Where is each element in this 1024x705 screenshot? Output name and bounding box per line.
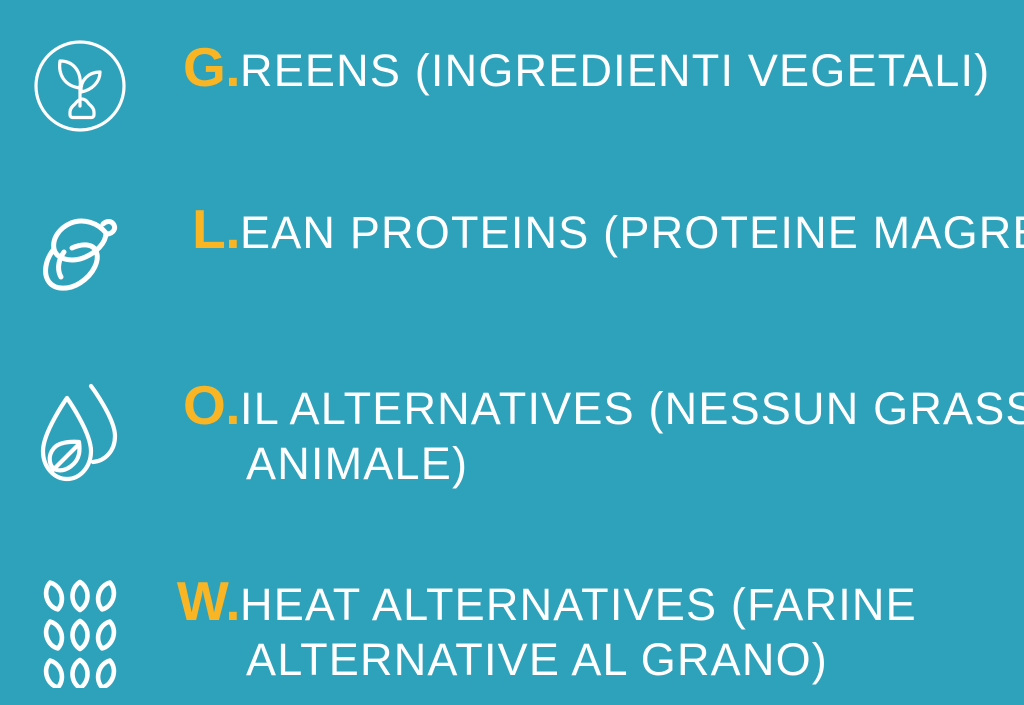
- list-item-text: W.HEAT ALTERNATIVES (FARINE ALTERNATIVE …: [160, 568, 1024, 686]
- list-item-line: G.REENS (INGREDIENTI VEGETALI): [160, 36, 1020, 100]
- list-item: O.IL ALTERNATIVES (NESSUN GRASSO ANIMALE…: [0, 372, 1024, 494]
- list-item: L.EAN PROTEINS (PROTEINE MAGRE): [0, 196, 1024, 306]
- list-item-text: G.REENS (INGREDIENTI VEGETALI): [160, 32, 1024, 100]
- initial-letter: W.: [160, 570, 240, 634]
- list-item-line: L.EAN PROTEINS (PROTEINE MAGRE): [160, 198, 1024, 262]
- initial-letter: G.: [160, 36, 240, 100]
- list-item-text: O.IL ALTERNATIVES (NESSUN GRASSO ANIMALE…: [160, 372, 1024, 490]
- list-item-label-wrap: ALTERNATIVE AL GRANO): [246, 634, 1020, 686]
- list-item-label: HEAT ALTERNATIVES (FARINE: [240, 579, 917, 631]
- sprout-in-circle-icon: [0, 32, 160, 138]
- list-item-line: O.IL ALTERNATIVES (NESSUN GRASSO: [160, 374, 1024, 438]
- acorn-icon: [0, 196, 160, 306]
- glow-acronym-slide: G.REENS (INGREDIENTI VEGETALI) L.EAN PRO…: [0, 0, 1024, 705]
- list-item-label: EAN PROTEINS (PROTEINE MAGRE): [240, 207, 1024, 259]
- list-item: G.REENS (INGREDIENTI VEGETALI): [0, 32, 1024, 138]
- list-item-label: REENS (INGREDIENTI VEGETALI): [240, 45, 990, 97]
- list-item-label: IL ALTERNATIVES (NESSUN GRASSO: [240, 383, 1024, 435]
- list-item-text: L.EAN PROTEINS (PROTEINE MAGRE): [160, 196, 1024, 262]
- oil-droplets-leaf-icon: [0, 372, 160, 494]
- initial-letter: L.: [160, 198, 240, 262]
- list-item-line: W.HEAT ALTERNATIVES (FARINE: [160, 570, 1020, 634]
- grain-seeds-icon: [0, 568, 160, 688]
- initial-letter: O.: [160, 374, 240, 438]
- list-item: W.HEAT ALTERNATIVES (FARINE ALTERNATIVE …: [0, 568, 1024, 688]
- list-item-label-wrap: ANIMALE): [246, 438, 1024, 490]
